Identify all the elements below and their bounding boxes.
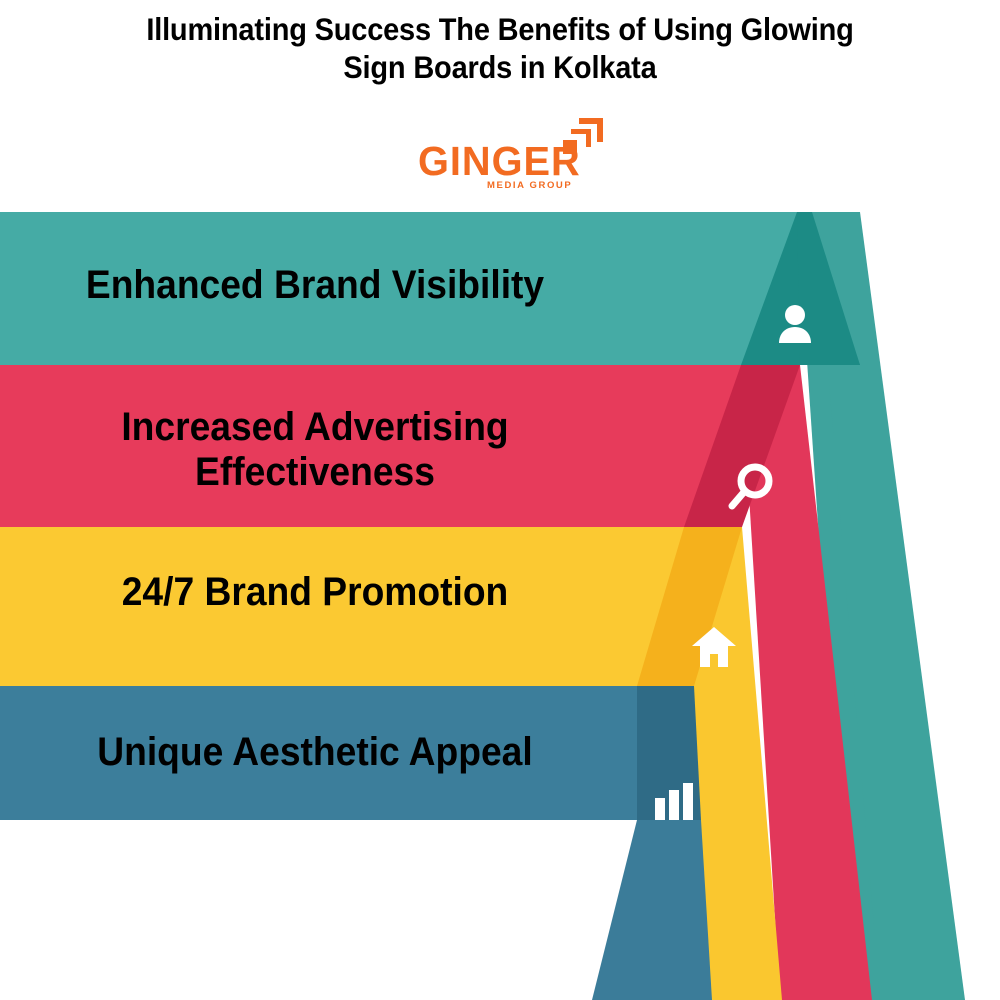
band-face-3 [0,686,637,820]
pyramid-leg-3 [592,820,712,1000]
band-face-0 [0,212,797,365]
layered-pyramid-graphic [0,0,1000,1000]
band-face-1 [0,365,741,527]
band-face-2 [0,527,684,686]
